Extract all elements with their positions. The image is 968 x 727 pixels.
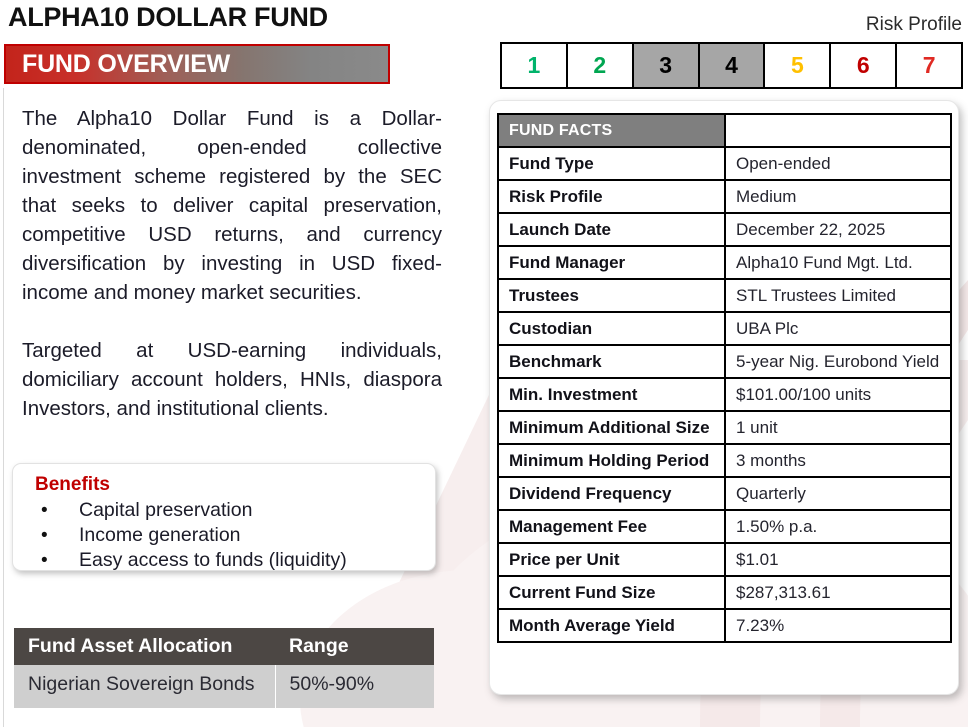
benefits-title: Benefits <box>35 474 110 496</box>
fund-facts-header-row: FUND FACTS <box>498 114 951 147</box>
bullet-icon: • <box>41 523 48 548</box>
table-row: Nigerian Sovereign Bonds 50%-90% <box>14 665 434 708</box>
table-header-row: Fund Asset Allocation Range <box>14 628 434 665</box>
fund-facts-value: December 22, 2025 <box>725 213 951 246</box>
table-row: Risk ProfileMedium <box>498 180 951 213</box>
fund-facts-value: 1.50% p.a. <box>725 510 951 543</box>
risk-cell-5[interactable]: 5 <box>765 44 831 87</box>
asset-allocation-col-range: Range <box>275 628 434 665</box>
benefits-list: •Capital preservation •Income generation… <box>35 498 347 573</box>
table-row: CustodianUBA Plc <box>498 312 951 345</box>
fund-facts-label: Launch Date <box>498 213 725 246</box>
table-row: Benchmark5-year Nig. Eurobond Yield <box>498 345 951 378</box>
risk-cell-6-value: 6 <box>857 52 870 79</box>
benefits-list-item: •Capital preservation <box>35 498 347 523</box>
fund-facts-value: Alpha10 Fund Mgt. Ltd. <box>725 246 951 279</box>
asset-allocation-col-asset: Fund Asset Allocation <box>14 628 275 665</box>
fund-facts-value: STL Trustees Limited <box>725 279 951 312</box>
fund-facts-value: Medium <box>725 180 951 213</box>
risk-cell-1[interactable]: 1 <box>502 44 568 87</box>
fund-facts-value: Quarterly <box>725 477 951 510</box>
fund-facts-body: Fund TypeOpen-ended Risk ProfileMedium L… <box>498 147 951 642</box>
risk-cell-7-value: 7 <box>923 52 936 79</box>
fund-facts-label: Minimum Holding Period <box>498 444 725 477</box>
fund-facts-value: 5-year Nig. Eurobond Yield <box>725 345 951 378</box>
fund-facts-value: $287,313.61 <box>725 576 951 609</box>
table-row: Minimum Holding Period3 months <box>498 444 951 477</box>
fund-facts-label: Month Average Yield <box>498 609 725 642</box>
benefits-item-label: Capital preservation <box>79 499 252 521</box>
fund-facts-label: Fund Type <box>498 147 725 180</box>
risk-cell-7[interactable]: 7 <box>897 44 961 87</box>
benefits-item-label: Income generation <box>79 524 241 546</box>
benefits-card: Benefits •Capital preservation •Income g… <box>12 463 436 571</box>
overview-paragraph-2: Targeted at USD-earning individuals, dom… <box>22 336 442 423</box>
left-edge-rule <box>3 88 4 727</box>
fund-facts-header-blank <box>725 114 951 147</box>
table-row: TrusteesSTL Trustees Limited <box>498 279 951 312</box>
asset-allocation-cell-range: 50%-90% <box>275 665 434 708</box>
fund-facts-label: Min. Investment <box>498 378 725 411</box>
fund-facts-value: Open-ended <box>725 147 951 180</box>
fund-facts-value: 7.23% <box>725 609 951 642</box>
fund-facts-label: Custodian <box>498 312 725 345</box>
fund-facts-label: Current Fund Size <box>498 576 725 609</box>
asset-allocation-cell-asset: Nigerian Sovereign Bonds <box>14 665 275 708</box>
table-row: Dividend FrequencyQuarterly <box>498 477 951 510</box>
risk-cell-2-value: 2 <box>593 52 606 79</box>
paragraph-spacer <box>22 307 442 336</box>
risk-cell-3[interactable]: 3 <box>634 44 700 87</box>
bullet-icon: • <box>41 548 48 573</box>
risk-cell-4-value: 4 <box>725 52 738 79</box>
table-row: Fund ManagerAlpha10 Fund Mgt. Ltd. <box>498 246 951 279</box>
fund-facts-header-label: FUND FACTS <box>498 114 725 147</box>
fund-asset-allocation-table: Fund Asset Allocation Range Nigerian Sov… <box>14 628 434 708</box>
fund-facts-label: Fund Manager <box>498 246 725 279</box>
table-row: Management Fee1.50% p.a. <box>498 510 951 543</box>
fund-facts-label: Trustees <box>498 279 725 312</box>
fund-overview-description: The Alpha10 Dollar Fund is a Dollar-deno… <box>22 104 442 423</box>
fund-facts-card: FUND FACTS Fund TypeOpen-ended Risk Prof… <box>489 100 959 695</box>
fund-facts-value: 3 months <box>725 444 951 477</box>
page-title: ALPHA10 DOLLAR FUND <box>8 2 328 33</box>
overview-paragraph-1: The Alpha10 Dollar Fund is a Dollar-deno… <box>22 104 442 307</box>
fund-facts-label: Benchmark <box>498 345 725 378</box>
fund-facts-label: Price per Unit <box>498 543 725 576</box>
table-row: Launch DateDecember 22, 2025 <box>498 213 951 246</box>
fund-facts-table: FUND FACTS Fund TypeOpen-ended Risk Prof… <box>497 113 952 643</box>
fund-facts-label: Dividend Frequency <box>498 477 725 510</box>
risk-cell-5-value: 5 <box>791 52 804 79</box>
benefits-list-item: •Easy access to funds (liquidity) <box>35 548 347 573</box>
fund-facts-value: $1.01 <box>725 543 951 576</box>
benefits-item-label: Easy access to funds (liquidity) <box>79 549 347 571</box>
table-row: Current Fund Size$287,313.61 <box>498 576 951 609</box>
fund-overview-banner: FUND OVERVIEW <box>4 44 390 84</box>
benefits-list-item: •Income generation <box>35 523 347 548</box>
risk-profile-scale: 1 2 3 4 5 6 7 <box>500 42 963 89</box>
table-row: Fund TypeOpen-ended <box>498 147 951 180</box>
fund-facts-value: $101.00/100 units <box>725 378 951 411</box>
fund-facts-label: Risk Profile <box>498 180 725 213</box>
risk-cell-6[interactable]: 6 <box>831 44 897 87</box>
fund-facts-value: UBA Plc <box>725 312 951 345</box>
risk-cell-3-value: 3 <box>659 52 672 79</box>
fund-overview-banner-label: FUND OVERVIEW <box>22 50 230 79</box>
risk-cell-1-value: 1 <box>528 52 541 79</box>
fund-facts-label: Management Fee <box>498 510 725 543</box>
risk-profile-label: Risk Profile <box>866 14 962 36</box>
risk-cell-4[interactable]: 4 <box>700 44 766 87</box>
table-row: Minimum Additional Size1 unit <box>498 411 951 444</box>
risk-cell-2[interactable]: 2 <box>568 44 634 87</box>
table-row: Price per Unit$1.01 <box>498 543 951 576</box>
table-row: Min. Investment$101.00/100 units <box>498 378 951 411</box>
table-row: Month Average Yield7.23% <box>498 609 951 642</box>
bullet-icon: • <box>41 498 48 523</box>
fund-facts-label: Minimum Additional Size <box>498 411 725 444</box>
fund-facts-value: 1 unit <box>725 411 951 444</box>
